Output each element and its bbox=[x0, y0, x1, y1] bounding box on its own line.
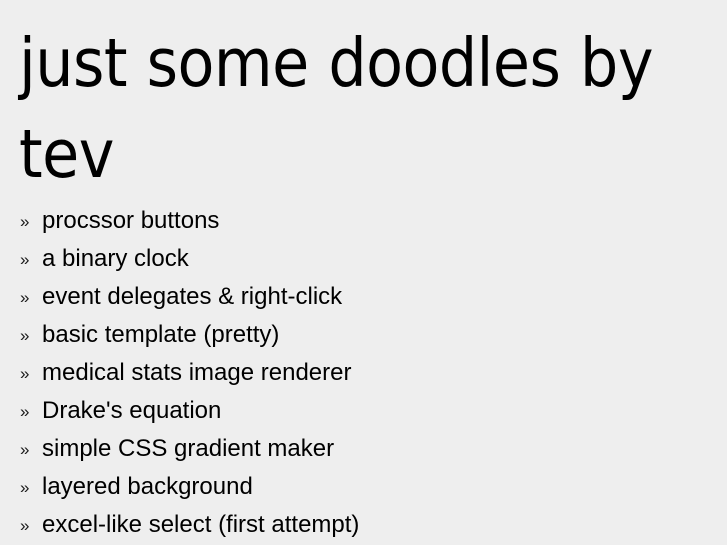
list-item-label[interactable]: a binary clock bbox=[42, 245, 189, 272]
double-angle-right-icon: » bbox=[20, 393, 42, 431]
double-angle-right-icon: » bbox=[20, 431, 42, 469]
list-item-label[interactable]: layered background bbox=[42, 473, 253, 500]
list-item-label[interactable]: event delegates & right-click bbox=[42, 283, 342, 310]
list-item-label[interactable]: procssor buttons bbox=[42, 207, 219, 234]
list-item[interactable]: »excel-like select (first attempt) bbox=[0, 506, 727, 544]
double-angle-right-icon: » bbox=[20, 355, 42, 393]
list-item[interactable]: »Drake's equation bbox=[0, 392, 727, 430]
doodle-link-list: »procssor buttons »a binary clock »event… bbox=[0, 202, 727, 544]
double-angle-right-icon: » bbox=[20, 203, 42, 241]
list-item-label[interactable]: excel-like select (first attempt) bbox=[42, 511, 359, 538]
double-angle-right-icon: » bbox=[20, 317, 42, 355]
list-item[interactable]: »a binary clock bbox=[0, 240, 727, 278]
list-item[interactable]: »simple CSS gradient maker bbox=[0, 430, 727, 468]
list-item-label[interactable]: simple CSS gradient maker bbox=[42, 435, 334, 462]
double-angle-right-icon: » bbox=[20, 469, 42, 507]
list-item[interactable]: »layered background bbox=[0, 468, 727, 506]
page-root: just some doodles by tev »procssor butto… bbox=[0, 0, 727, 545]
list-item-label[interactable]: basic template (pretty) bbox=[42, 321, 279, 348]
double-angle-right-icon: » bbox=[20, 279, 42, 317]
list-item-label[interactable]: medical stats image renderer bbox=[42, 359, 351, 386]
list-item[interactable]: »medical stats image renderer bbox=[0, 354, 727, 392]
list-item[interactable]: »basic template (pretty) bbox=[0, 316, 727, 354]
page-title: just some doodles by tev bbox=[0, 0, 727, 200]
list-item[interactable]: »procssor buttons bbox=[0, 202, 727, 240]
double-angle-right-icon: » bbox=[20, 241, 42, 279]
double-angle-right-icon: » bbox=[20, 507, 42, 545]
list-item-label[interactable]: Drake's equation bbox=[42, 397, 221, 424]
list-item[interactable]: »event delegates & right-click bbox=[0, 278, 727, 316]
